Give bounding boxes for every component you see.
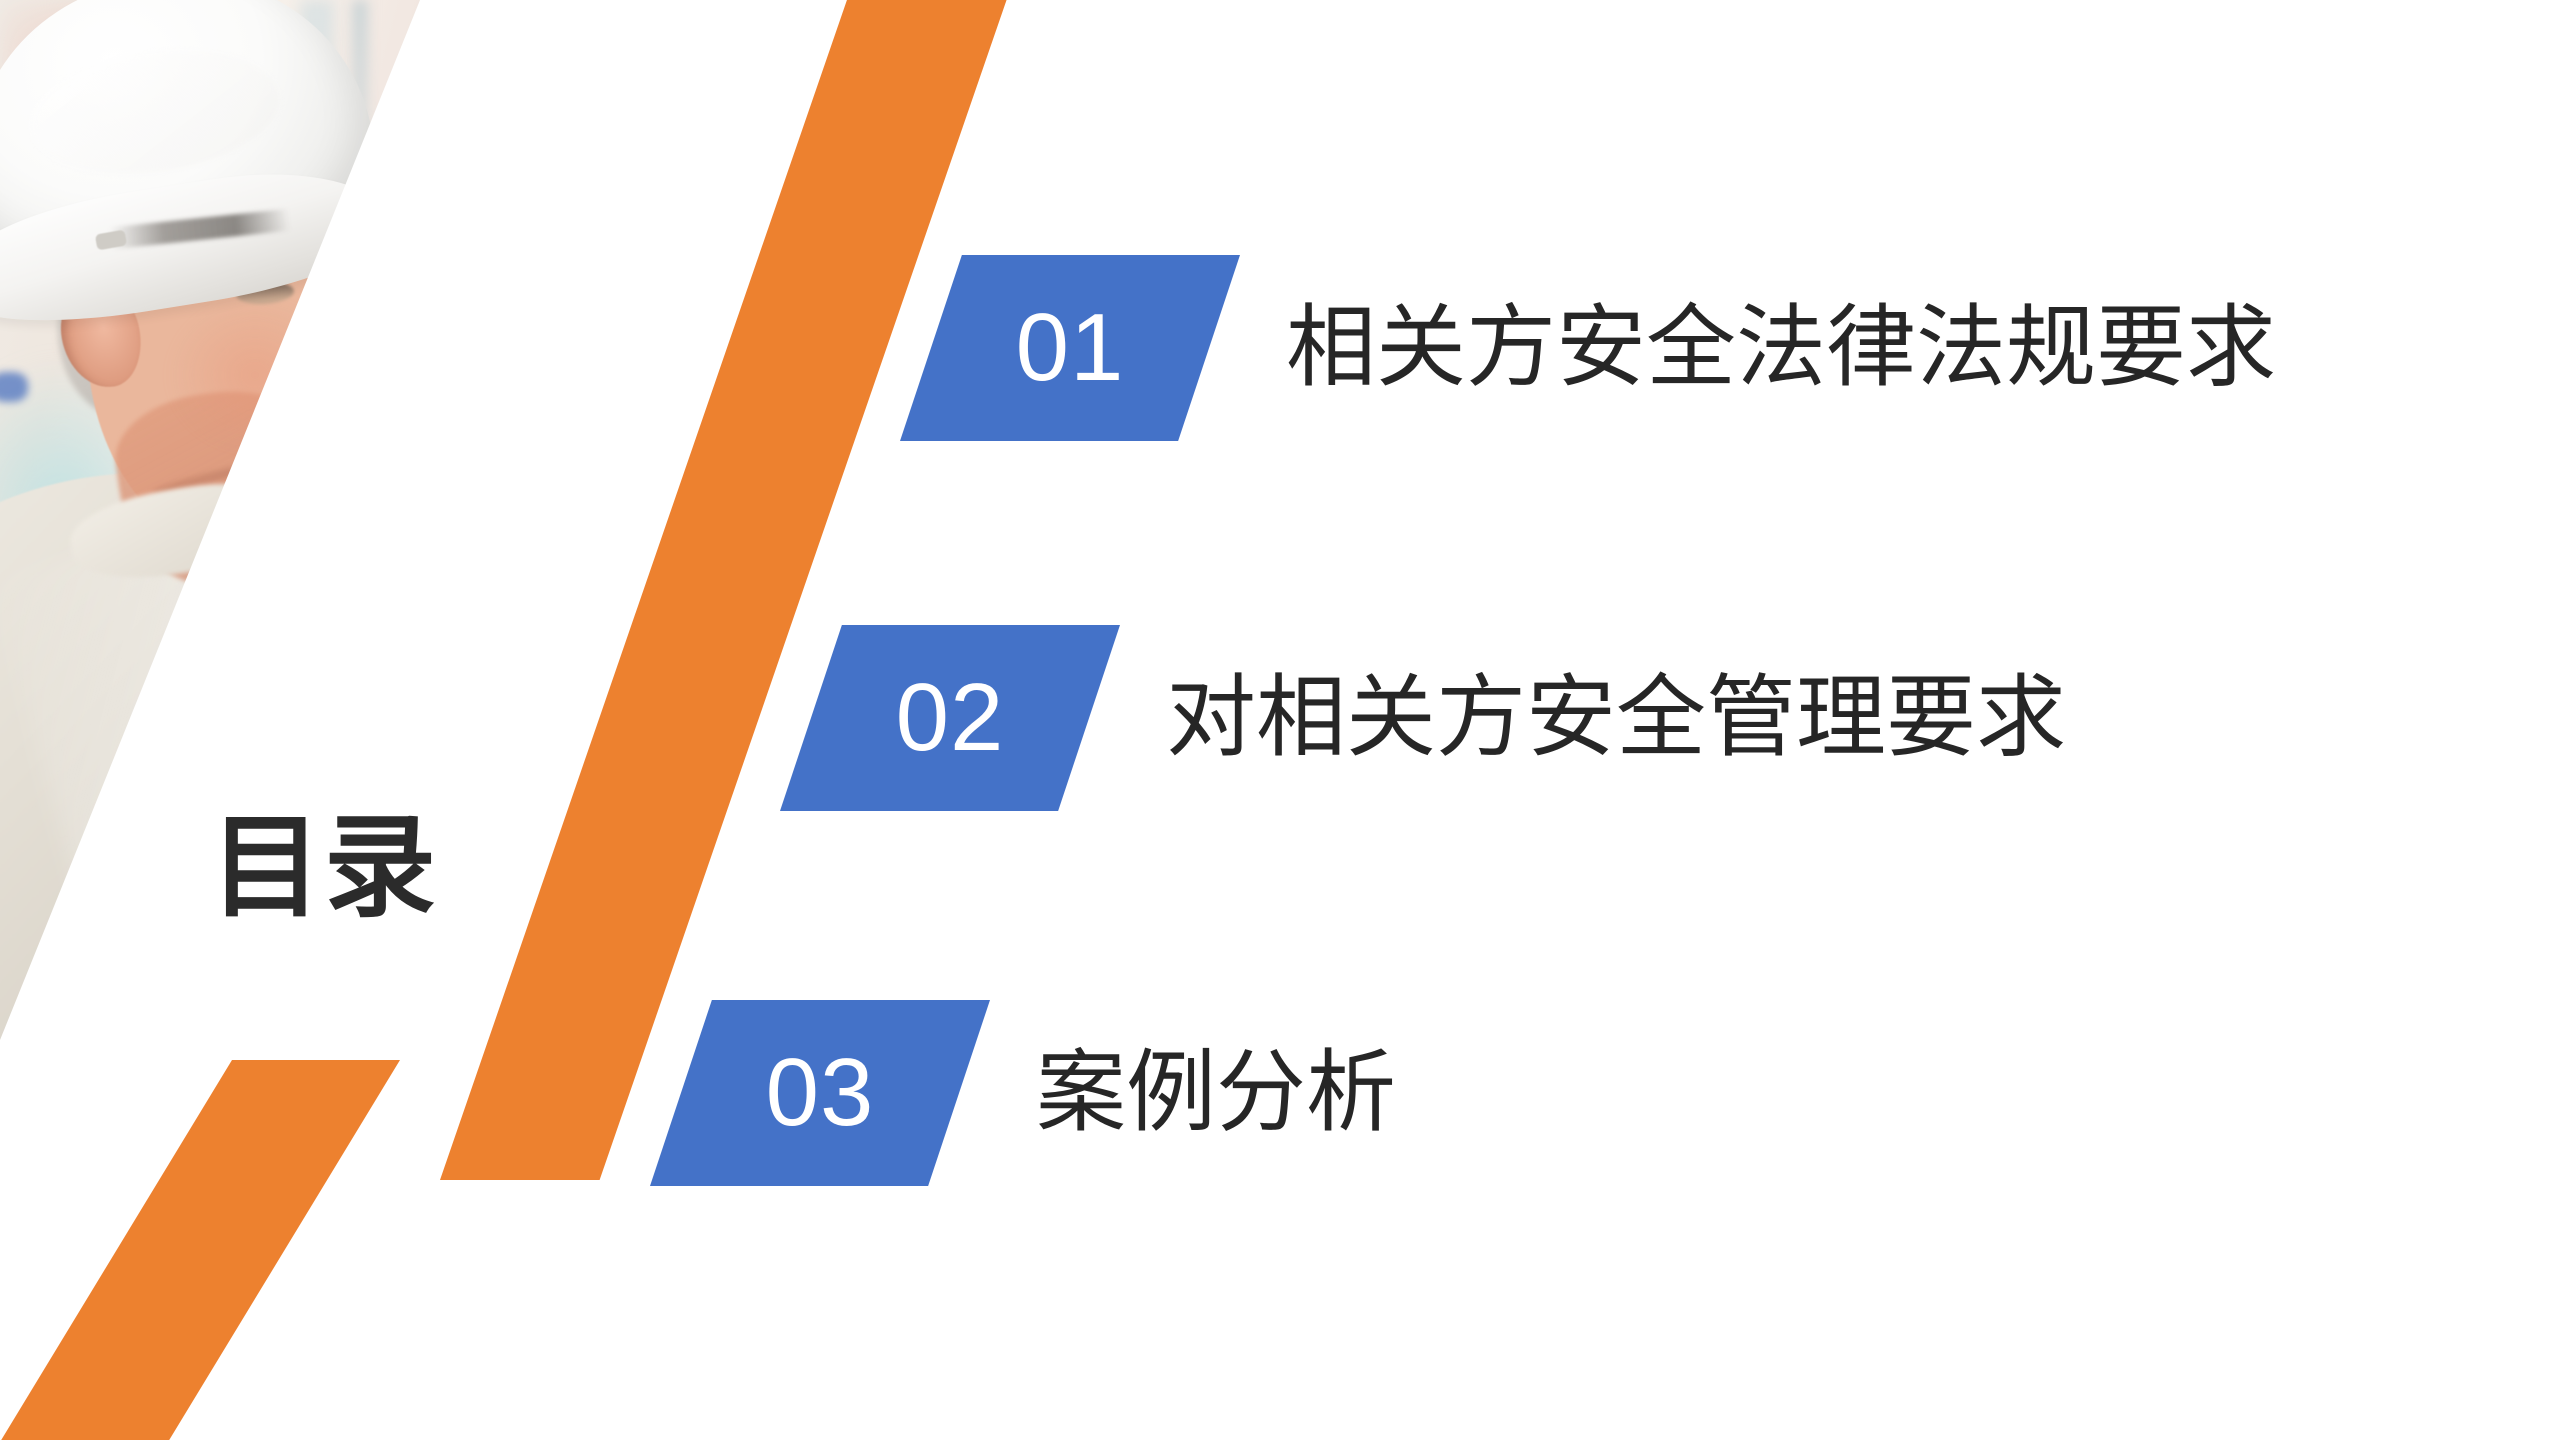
toc-item-02[interactable]: 02 对相关方安全管理要求: [780, 625, 2066, 811]
worker-teeth: [263, 431, 326, 454]
page-title: 目录: [210, 812, 438, 924]
toc-number-01: 01: [1016, 300, 1125, 396]
toc-label-01: 相关方安全法律法规要求: [1286, 303, 2276, 393]
toc-item-01[interactable]: 01 相关方安全法律法规要求: [900, 255, 2276, 441]
slide-canvas: 目录 01 相关方安全法律法规要求 02 对相关方安全管理要求 03 案例分析: [0, 0, 2560, 1440]
toc-number-chip-02: 02: [780, 625, 1120, 811]
photo-blue-accent: [0, 372, 28, 402]
worker-nose: [283, 320, 355, 408]
toc-number-02: 02: [896, 670, 1005, 766]
toc-label-02: 对相关方安全管理要求: [1166, 673, 2066, 763]
toc-number-chip-03: 03: [650, 1000, 990, 1186]
toc-number-chip-01: 01: [900, 255, 1240, 441]
toc-item-03[interactable]: 03 案例分析: [650, 1000, 1396, 1186]
worker-cheek: [170, 300, 340, 450]
orange-diagonal-bar-lower: [0, 1060, 400, 1440]
worker-mouth: [249, 424, 344, 464]
toc-label-03: 案例分析: [1036, 1048, 1396, 1138]
toc-number-03: 03: [766, 1045, 875, 1141]
